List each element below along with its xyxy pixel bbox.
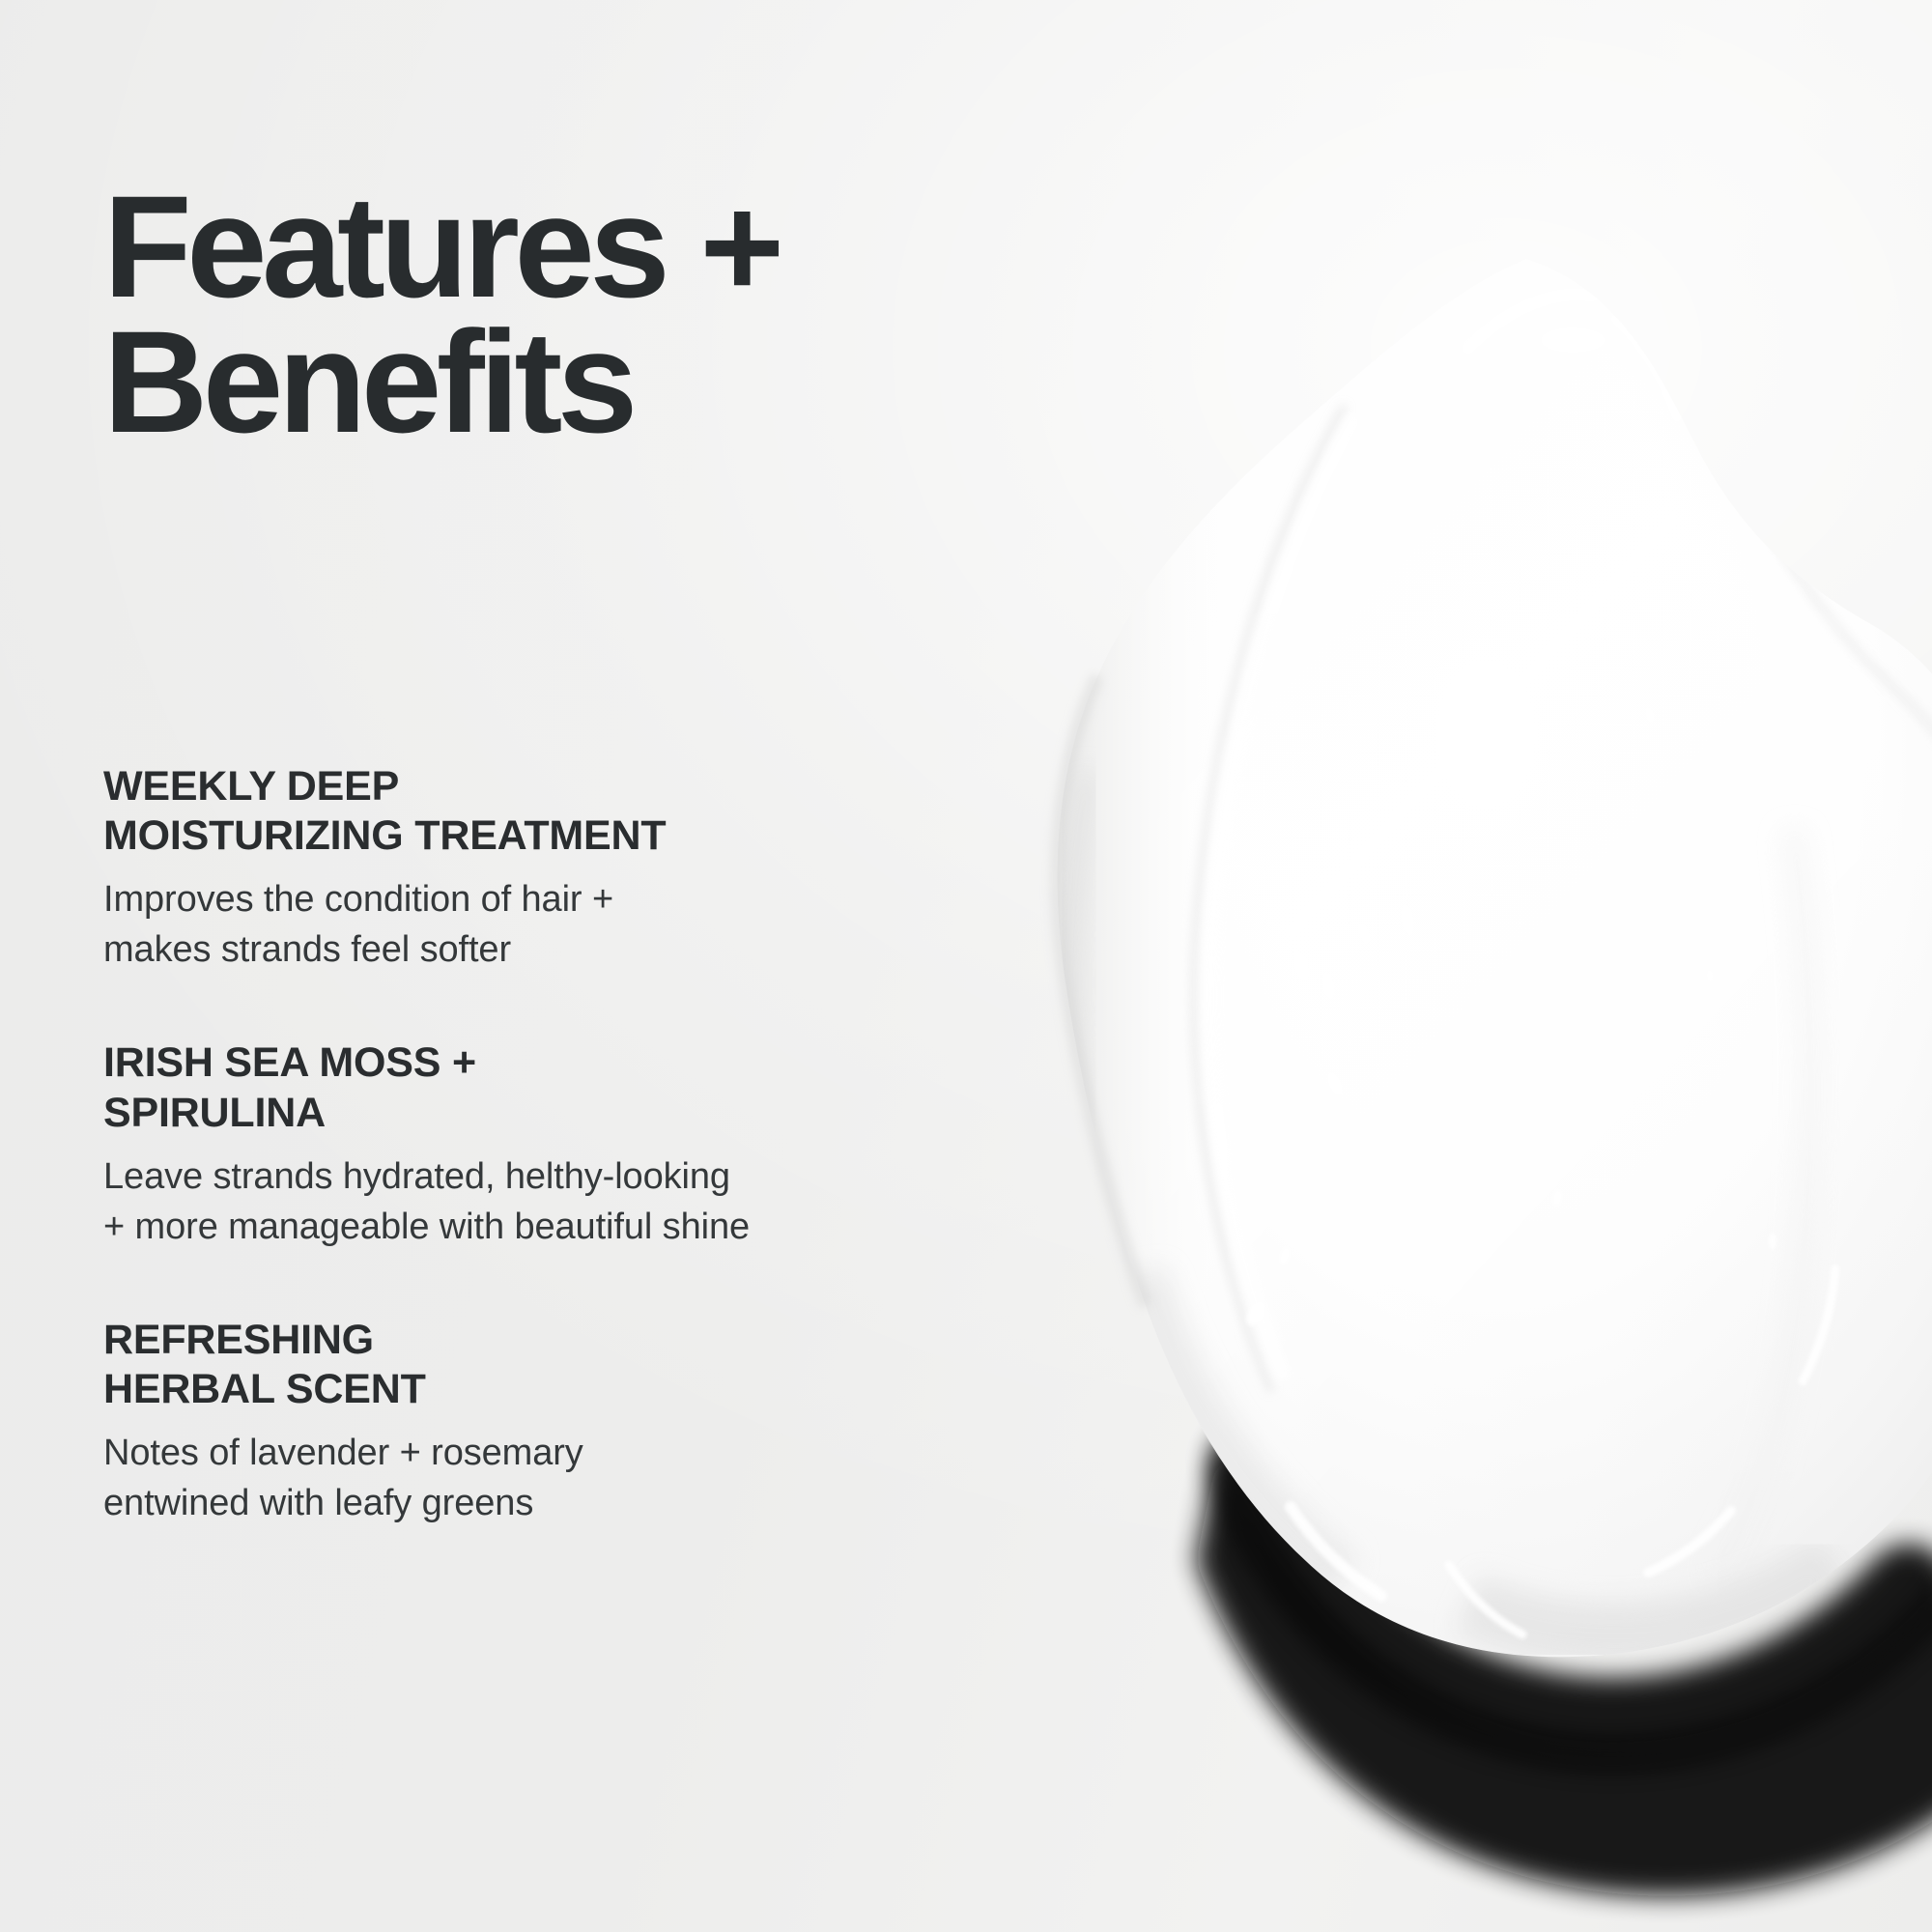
feature-title-1: WEEKLY DEEP MOISTURIZING TREATMENT: [103, 762, 973, 861]
feature-list: WEEKLY DEEP MOISTURIZING TREATMENT Impro…: [103, 762, 973, 1528]
feature-item-1: WEEKLY DEEP MOISTURIZING TREATMENT Impro…: [103, 762, 973, 975]
feature-title-3: REFRESHING HERBAL SCENT: [103, 1316, 973, 1414]
feature-description-1: Improves the condition of hair + makes s…: [103, 874, 973, 975]
feature-item-2: IRISH SEA MOSS + SPIRULINA Leave strands…: [103, 1038, 973, 1251]
copy-column: Features + Benefits WEEKLY DEEP MOISTURI…: [103, 0, 1011, 1932]
feature-description-3: Notes of lavender + rosemary entwined wi…: [103, 1428, 973, 1528]
marketing-graphic: Features + Benefits WEEKLY DEEP MOISTURI…: [0, 0, 1932, 1932]
cream-body: [1043, 241, 1932, 1690]
page-title: Features + Benefits: [103, 180, 1011, 449]
cream-cast-shadow: [1140, 1435, 1932, 1932]
feature-description-2: Leave strands hydrated, helthy-looking +…: [103, 1151, 973, 1252]
feature-item-3: REFRESHING HERBAL SCENT Notes of lavende…: [103, 1316, 973, 1528]
feature-title-2: IRISH SEA MOSS + SPIRULINA: [103, 1038, 973, 1137]
